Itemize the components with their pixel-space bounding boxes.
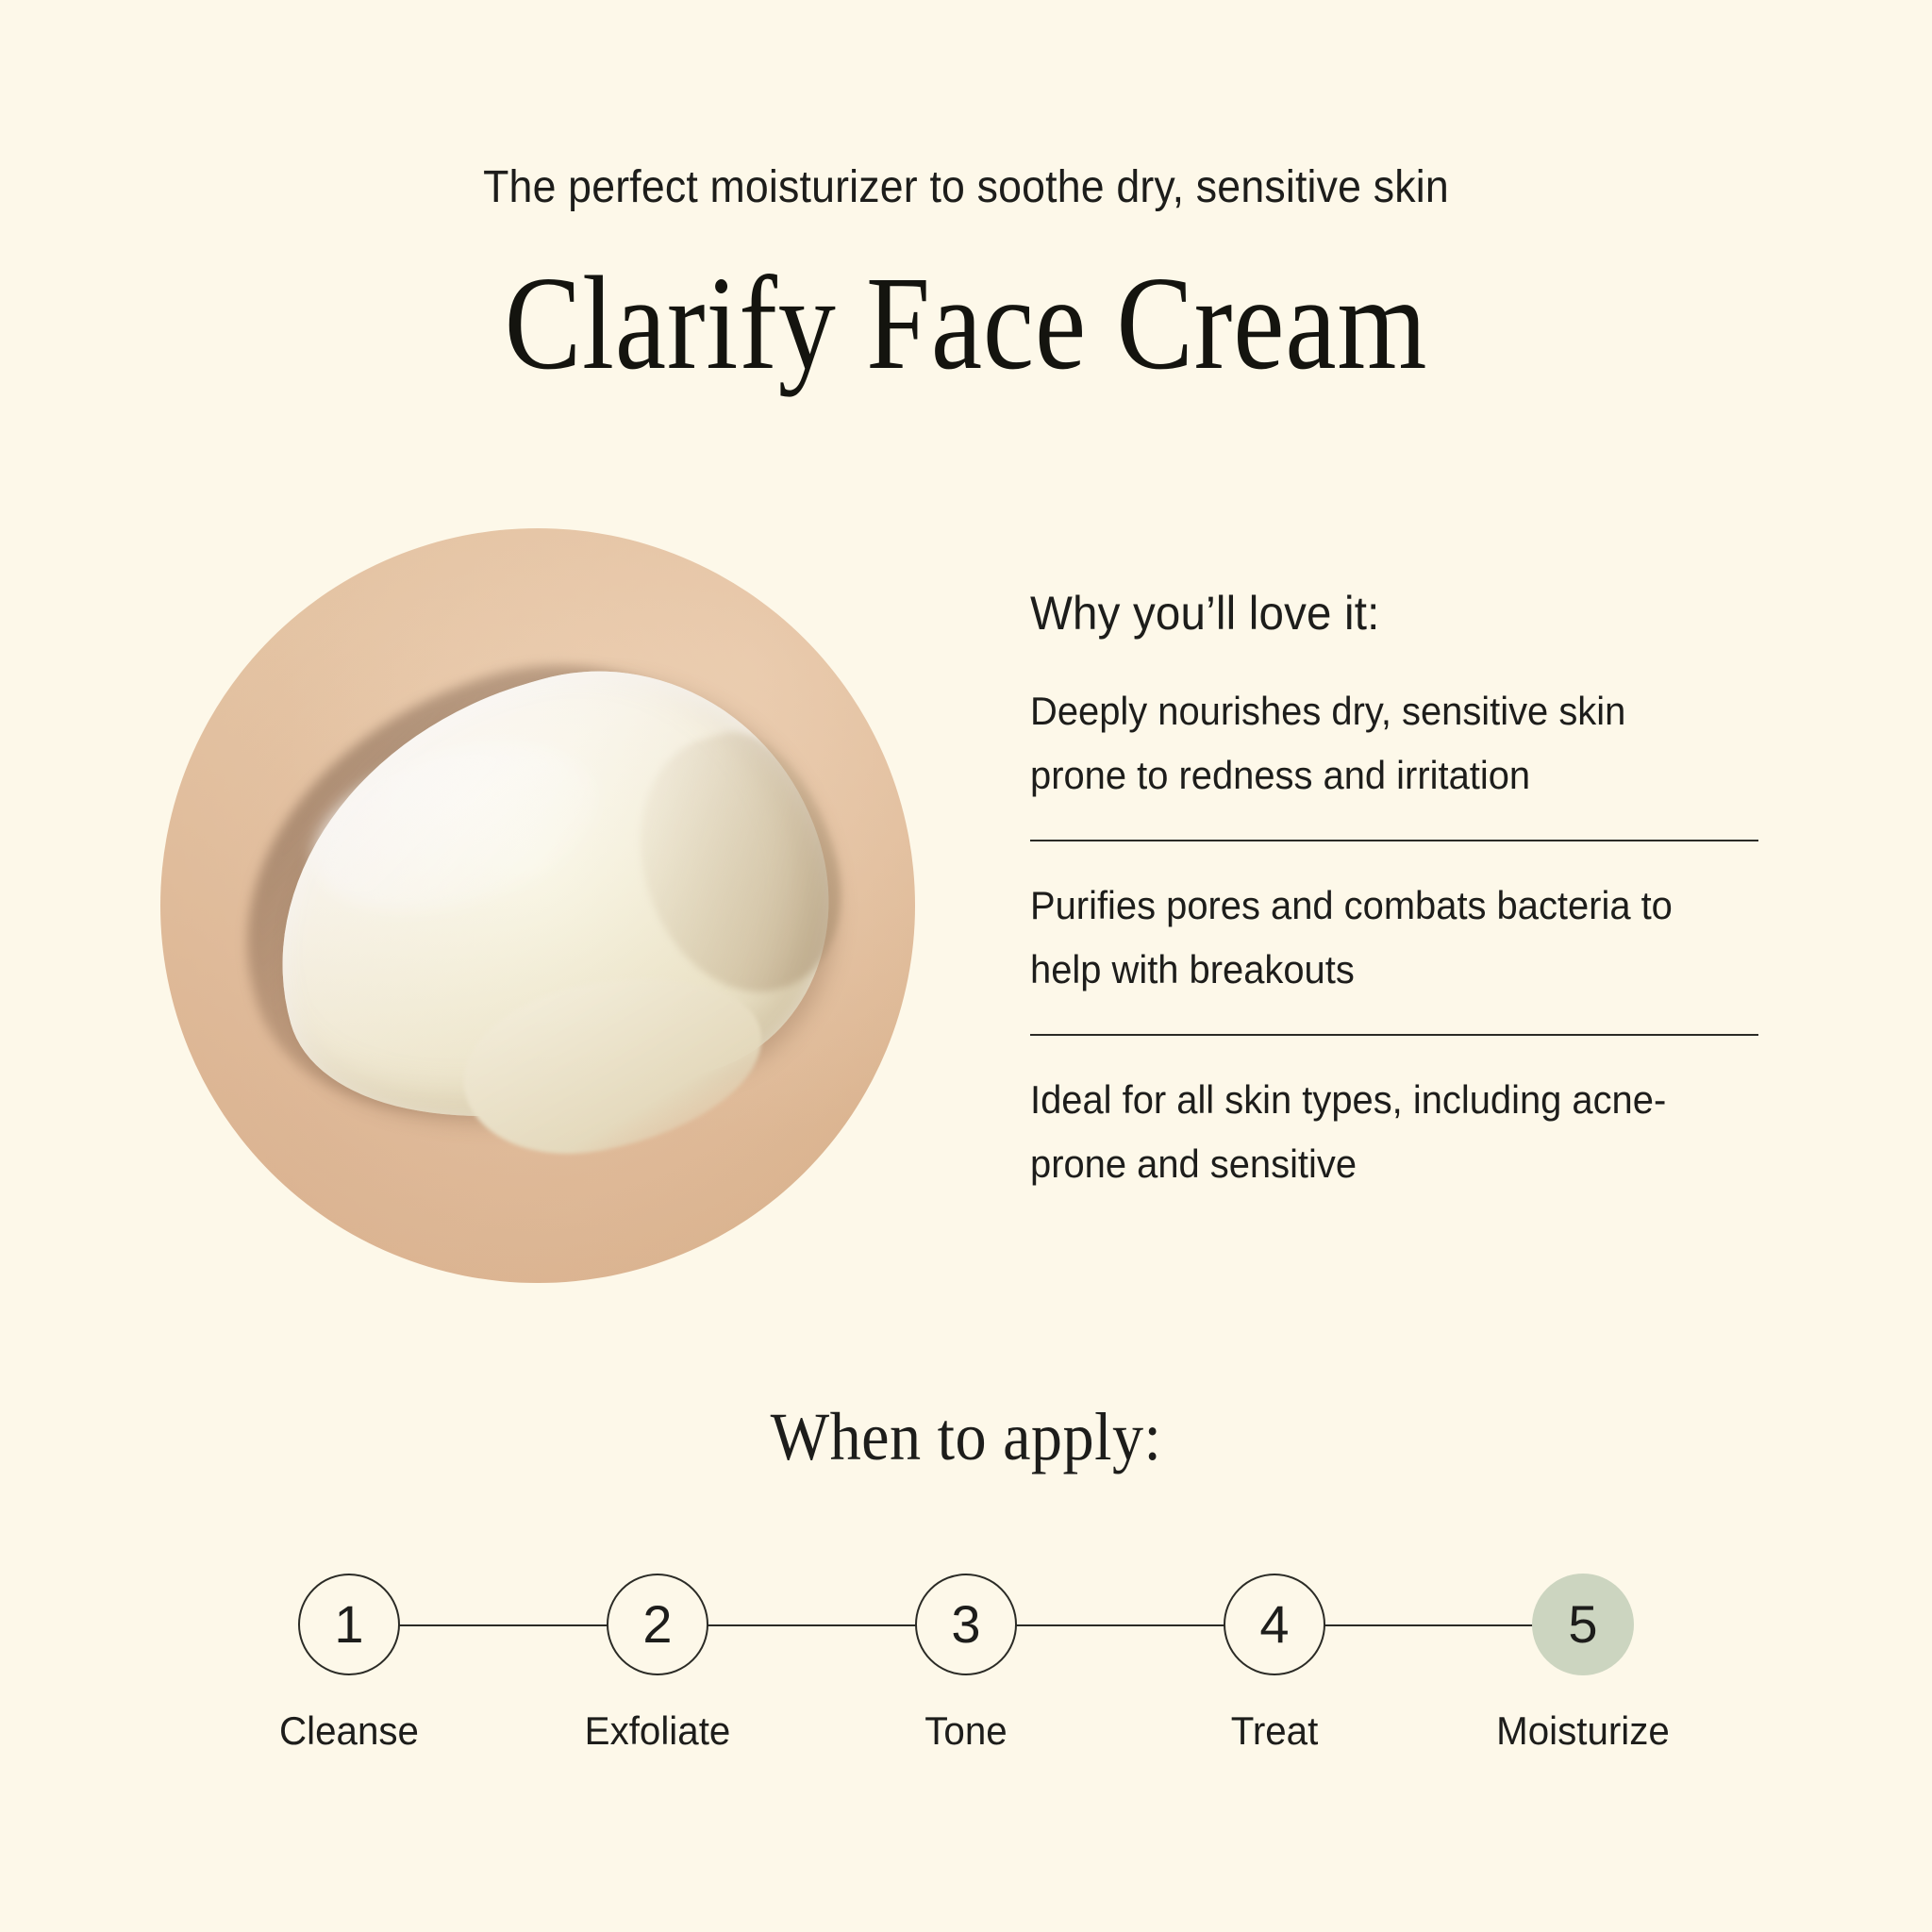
benefit-divider [1030, 1034, 1758, 1036]
cream-swatch-shadow [188, 612, 826, 1168]
benefit-text: Ideal for all skin types, including acne… [1030, 1068, 1711, 1196]
routine-section: When to apply: 1Cleanse2Exfoliate3Tone4T… [0, 1396, 1932, 1677]
routine-stepper: 1Cleanse2Exfoliate3Tone4Treat5Moisturize [298, 1574, 1634, 1677]
page-header: The perfect moisturizer to soothe dry, s… [0, 160, 1932, 393]
step-number-badge: 1 [298, 1574, 400, 1675]
step-label: Treat [1184, 1707, 1365, 1755]
step-label: Exfoliate [567, 1707, 748, 1755]
benefit-item: Deeply nourishes dry, sensitive skin pro… [1030, 679, 1758, 840]
hero-section: Why you’ll love it: Deeply nourishes dry… [0, 528, 1932, 1311]
benefit-text: Deeply nourishes dry, sensitive skin pro… [1030, 679, 1711, 808]
routine-step-treat[interactable]: 4Treat [1180, 1574, 1369, 1755]
benefit-divider [1030, 840, 1758, 841]
step-label: Moisturize [1492, 1707, 1674, 1755]
benefit-item: Purifies pores and combats bacteria to h… [1030, 874, 1758, 1034]
step-label: Cleanse [258, 1707, 440, 1755]
benefits-list: Why you’ll love it: Deeply nourishes dry… [1030, 585, 1758, 1228]
step-number-badge: 2 [607, 1574, 708, 1675]
step-number-badge: 3 [915, 1574, 1017, 1675]
routine-step-cleanse[interactable]: 1Cleanse [255, 1574, 443, 1755]
product-photo-circle [160, 528, 915, 1283]
eyebrow-tagline: The perfect moisturizer to soothe dry, s… [68, 160, 1865, 215]
routine-step-exfoliate[interactable]: 2Exfoliate [563, 1574, 752, 1755]
benefit-text: Purifies pores and combats bacteria to h… [1030, 874, 1711, 1002]
step-number-badge: 4 [1224, 1574, 1325, 1675]
step-label: Tone [875, 1707, 1057, 1755]
cream-swatch [219, 618, 873, 1178]
routine-step-moisturize[interactable]: 5Moisturize [1489, 1574, 1677, 1755]
product-marketing-page: The perfect moisturizer to soothe dry, s… [0, 0, 1932, 1932]
routine-heading: When to apply: [77, 1396, 1855, 1477]
step-number-badge: 5 [1532, 1574, 1634, 1675]
benefit-item: Ideal for all skin types, including acne… [1030, 1068, 1758, 1228]
product-photo [160, 528, 915, 1283]
routine-step-tone[interactable]: 3Tone [872, 1574, 1060, 1755]
benefits-heading: Why you’ll love it: [1030, 585, 1722, 641]
page-title: Clarify Face Cream [135, 215, 1796, 393]
cream-swatch-tail [450, 957, 776, 1173]
